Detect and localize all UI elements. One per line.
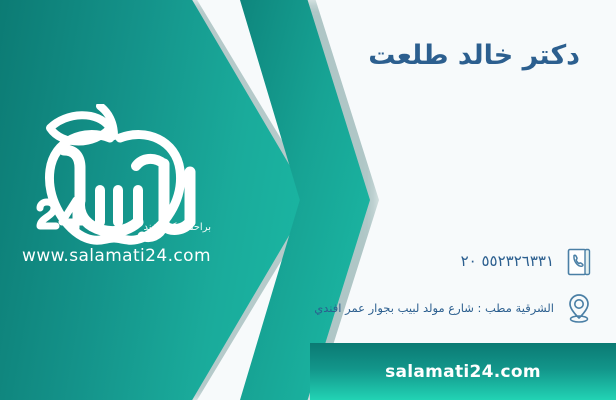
phonebook-icon (560, 243, 598, 281)
logo-tagline: براحتی یک لبخند (91, 222, 211, 233)
contact-row-phone: ٥٥٢٣٢٦٣٣١ ٢٠ (258, 243, 598, 281)
brand-logo: براحتی یک لبخند www.salamati24.com (14, 104, 219, 274)
contact-list: ٥٥٢٣٢٦٣٣١ ٢٠ الشرقية مطب : شارع مولد لبي… (258, 243, 598, 335)
logo-url: www.salamati24.com (14, 246, 219, 266)
phone-number: ٥٥٢٣٢٦٣٣١ ٢٠ (461, 252, 560, 272)
location-pin-icon (560, 289, 598, 327)
website-bar: salamati24.com (310, 343, 616, 400)
doctor-name: دكتر خالد طلعت (368, 40, 580, 71)
contact-row-address: الشرقية مطب : شارع مولد لبيب بجوار عمر ا… (258, 289, 598, 327)
website-label: salamati24.com (385, 362, 541, 382)
business-card: براحتی یک لبخند www.salamati24.com دكتر … (0, 0, 616, 400)
address-text: الشرقية مطب : شارع مولد لبيب بجوار عمر ا… (314, 301, 560, 316)
